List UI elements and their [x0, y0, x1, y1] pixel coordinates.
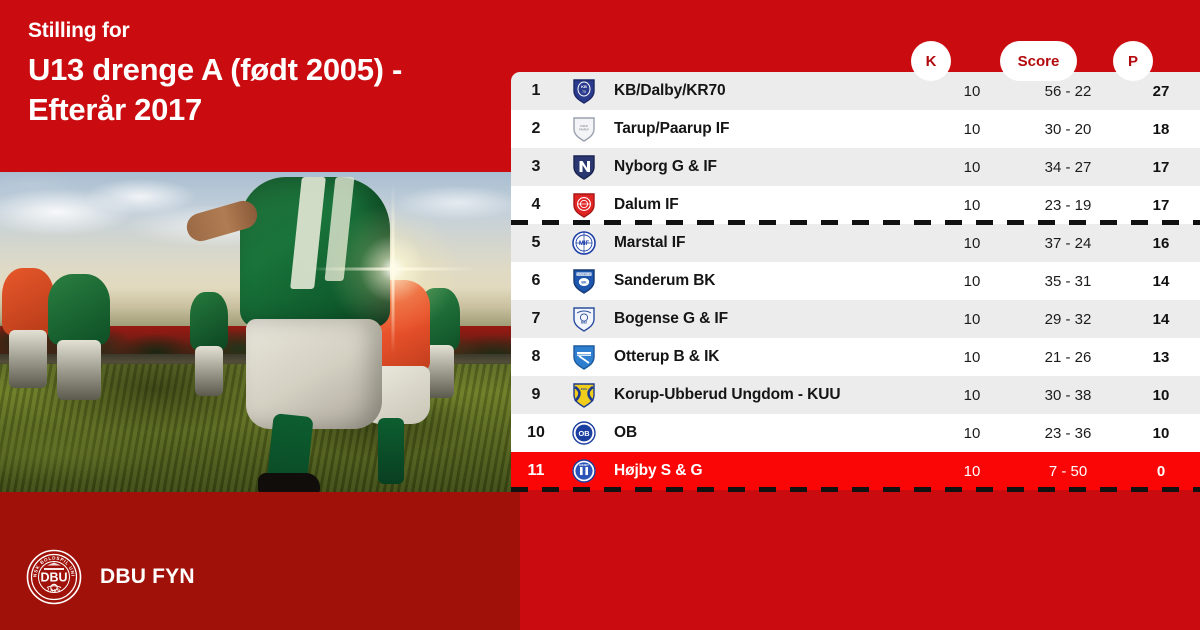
table-row[interactable]: 7 B&I Bogense G & IF 10 29 - 32 14	[511, 300, 1200, 338]
row-position: 11	[511, 462, 561, 480]
club-crest-icon	[561, 343, 607, 371]
row-points: 13	[1122, 349, 1200, 366]
row-position: 8	[511, 348, 561, 366]
row-matches: 10	[930, 273, 1014, 290]
row-team-name: Dalum IF	[607, 196, 930, 214]
table-row[interactable]: 2 TARUP PAARUP Tarup/Paarup IF 10 30 - 2…	[511, 110, 1200, 148]
photo-player-distant	[48, 274, 110, 400]
row-goal-score: 23 - 19	[1014, 197, 1122, 214]
row-position: 3	[511, 158, 561, 176]
row-goal-score: 35 - 31	[1014, 273, 1122, 290]
column-header-score[interactable]: Score	[1000, 41, 1077, 81]
row-matches: 10	[930, 425, 1014, 442]
header-block: Stilling for U13 drenge A (født 2005) - …	[28, 18, 498, 130]
club-crest-icon	[561, 153, 607, 181]
club-crest-icon: HØJBY	[561, 457, 607, 485]
row-matches: 10	[930, 197, 1014, 214]
page-title-line1: U13 drenge A (født 2005) -	[28, 50, 498, 90]
row-goal-score: 23 - 36	[1014, 425, 1122, 442]
brand-name: DBU FYN	[100, 565, 195, 589]
row-team-name: OB	[607, 424, 930, 442]
row-team-name: Bogense G & IF	[607, 310, 930, 328]
svg-text:OB: OB	[578, 429, 589, 438]
row-points: 17	[1122, 159, 1200, 176]
page-title: U13 drenge A (født 2005) - Efterår 2017	[28, 50, 498, 129]
column-header-k[interactable]: K	[911, 41, 951, 81]
row-goal-score: 37 - 24	[1014, 235, 1122, 252]
table-row[interactable]: 8 Otterup B & IK 10 21 - 26 13	[511, 338, 1200, 376]
svg-text:KUU: KUU	[581, 387, 588, 391]
row-points: 0	[1122, 463, 1200, 480]
row-matches: 10	[930, 349, 1014, 366]
dbu-crest-icon: DANSK BOLDSPIL UNION 1889 DBU	[26, 549, 82, 605]
row-position: 5	[511, 234, 561, 252]
svg-text:KB: KB	[581, 84, 587, 89]
qualification-divider	[511, 220, 1200, 225]
table-row[interactable]: 4 Dalum IF 10 23 - 19 17	[511, 186, 1200, 224]
row-points: 10	[1122, 425, 1200, 442]
row-team-name: Nyborg G & IF	[607, 158, 930, 176]
row-team-name: Højby S & G	[607, 462, 930, 480]
row-goal-score: 21 - 26	[1014, 349, 1122, 366]
table-row[interactable]: 10 OB OB 10 23 - 36 10	[511, 414, 1200, 452]
relegation-divider	[511, 487, 1200, 492]
club-crest-icon: B&I	[561, 305, 607, 333]
club-crest-icon: KUU	[561, 381, 607, 409]
svg-text:PAARUP: PAARUP	[579, 128, 589, 131]
row-position: 4	[511, 196, 561, 214]
table-row[interactable]: 11 HØJBY Højby S & G 10 7 - 50 0	[511, 452, 1200, 490]
row-goal-score: 30 - 20	[1014, 121, 1122, 138]
row-matches: 10	[930, 311, 1014, 328]
row-goal-score: 34 - 27	[1014, 159, 1122, 176]
row-goal-score: 7 - 50	[1014, 463, 1122, 480]
row-position: 10	[511, 424, 561, 442]
page-title-line2: Efterår 2017	[28, 90, 498, 130]
row-matches: 10	[930, 235, 1014, 252]
row-points: 14	[1122, 311, 1200, 328]
photo-player-distant	[2, 268, 54, 388]
row-matches: 10	[930, 121, 1014, 138]
table-row[interactable]: 5 MIF Marstal IF 10 37 - 24 16	[511, 224, 1200, 262]
header-kicker: Stilling for	[28, 18, 498, 43]
row-team-name: Otterup B & IK	[607, 348, 930, 366]
table-row[interactable]: 1 KB 70 KB/Dalby/KR70 10 56 - 22 27	[511, 72, 1200, 110]
row-position: 1	[511, 82, 561, 100]
club-crest-icon	[561, 191, 607, 219]
row-position: 7	[511, 310, 561, 328]
row-position: 6	[511, 272, 561, 290]
row-points: 18	[1122, 121, 1200, 138]
club-crest-icon: MIF	[561, 229, 607, 257]
svg-text:70: 70	[582, 90, 586, 94]
row-matches: 10	[930, 387, 1014, 404]
row-matches: 10	[930, 83, 1014, 100]
svg-text:MIF: MIF	[579, 241, 590, 247]
column-header-p[interactable]: P	[1113, 41, 1153, 81]
svg-text:BK: BK	[581, 280, 587, 284]
row-points: 10	[1122, 387, 1200, 404]
row-points: 14	[1122, 273, 1200, 290]
svg-text:B&I: B&I	[581, 321, 587, 325]
row-points: 17	[1122, 197, 1200, 214]
row-matches: 10	[930, 159, 1014, 176]
football-match-photo	[0, 172, 520, 492]
row-team-name: KB/Dalby/KR70	[607, 82, 930, 100]
standings-table: 1 KB 70 KB/Dalby/KR70 10 56 - 22 272 TAR…	[511, 72, 1200, 490]
table-row[interactable]: 9 KUU Korup-Ubberud Ungdom - KUU 10 30 -…	[511, 376, 1200, 414]
club-crest-icon: SANDERUM BK	[561, 267, 607, 295]
club-crest-icon: TARUP PAARUP	[561, 115, 607, 143]
row-goal-score: 56 - 22	[1014, 83, 1122, 100]
row-team-name: Marstal IF	[607, 234, 930, 252]
club-crest-icon: OB	[561, 419, 607, 447]
table-row[interactable]: 6 SANDERUM BK Sanderum BK 10 35 - 31 14	[511, 262, 1200, 300]
row-goal-score: 29 - 32	[1014, 311, 1122, 328]
row-team-name: Sanderum BK	[607, 272, 930, 290]
club-crest-icon: KB 70	[561, 77, 607, 105]
svg-text:SANDERUM: SANDERUM	[577, 273, 591, 276]
svg-text:HØJBY: HØJBY	[579, 463, 589, 467]
row-position: 9	[511, 386, 561, 404]
table-row[interactable]: 3 Nyborg G & IF 10 34 - 27 17	[511, 148, 1200, 186]
row-goal-score: 30 - 38	[1014, 387, 1122, 404]
photo-player-distant	[190, 292, 228, 396]
photo-player-foreground	[228, 177, 408, 487]
svg-text:DBU: DBU	[40, 571, 67, 585]
row-team-name: Korup-Ubberud Ungdom - KUU	[607, 386, 930, 404]
row-position: 2	[511, 120, 561, 138]
brand-lockup: DANSK BOLDSPIL UNION 1889 DBU DBU FYN	[26, 549, 195, 605]
row-matches: 10	[930, 463, 1014, 480]
row-points: 27	[1122, 83, 1200, 100]
row-points: 16	[1122, 235, 1200, 252]
stilling-graphic: Stilling for U13 drenge A (født 2005) - …	[0, 0, 1200, 630]
row-team-name: Tarup/Paarup IF	[607, 120, 930, 138]
